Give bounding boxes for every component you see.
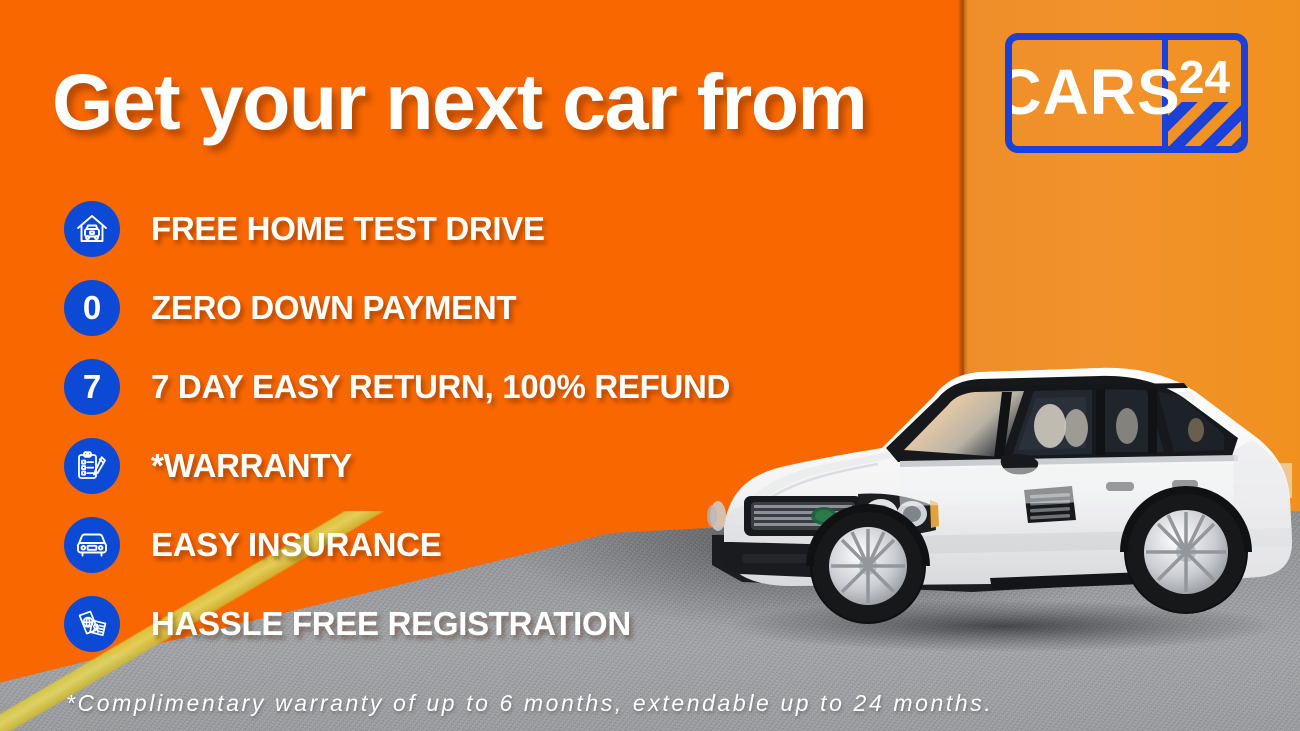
list-item-label: FREE HOME TEST DRIVE	[151, 210, 545, 248]
advertisement-banner: Get your next car from CARS 24	[0, 0, 1300, 731]
list-item: EASY INSURANCE	[64, 512, 944, 578]
page-title: Get your next car from	[52, 57, 952, 147]
list-item: FREE HOME TEST DRIVE	[64, 196, 944, 262]
logo-number-panel: 24	[1168, 40, 1241, 146]
logo-number: 24	[1179, 54, 1230, 100]
list-item: *WARRANTY	[64, 433, 944, 499]
list-item: 0 ZERO DOWN PAYMENT	[64, 275, 944, 341]
footnote-text: *Complimentary warranty of up to 6 month…	[66, 690, 1276, 717]
cars24-logo[interactable]: CARS 24	[1005, 33, 1248, 153]
logo-stripes-icon	[1168, 102, 1241, 146]
car-front-icon	[64, 517, 120, 573]
list-item-label: EASY INSURANCE	[151, 526, 441, 564]
badge-number: 0	[83, 291, 101, 326]
list-item: 7 7 DAY EASY RETURN, 100% REFUND	[64, 354, 944, 420]
seven-icon: 7	[64, 359, 120, 415]
list-item-label: HASSLE FREE REGISTRATION	[151, 605, 631, 643]
list-item-label: 7 DAY EASY RETURN, 100% REFUND	[151, 368, 730, 406]
feature-list: FREE HOME TEST DRIVE 0 ZERO DOWN PAYMENT…	[64, 196, 944, 670]
logo-word-panel: CARS	[1012, 40, 1162, 146]
zero-icon: 0	[64, 280, 120, 336]
documents-id-icon	[64, 596, 120, 652]
badge-number: 7	[83, 370, 101, 405]
clipboard-pen-icon	[64, 438, 120, 494]
home-car-icon	[64, 201, 120, 257]
list-item-label: ZERO DOWN PAYMENT	[151, 289, 516, 327]
list-item-label: *WARRANTY	[151, 447, 352, 485]
logo-word: CARS	[1005, 60, 1181, 124]
list-item: HASSLE FREE REGISTRATION	[64, 591, 944, 657]
